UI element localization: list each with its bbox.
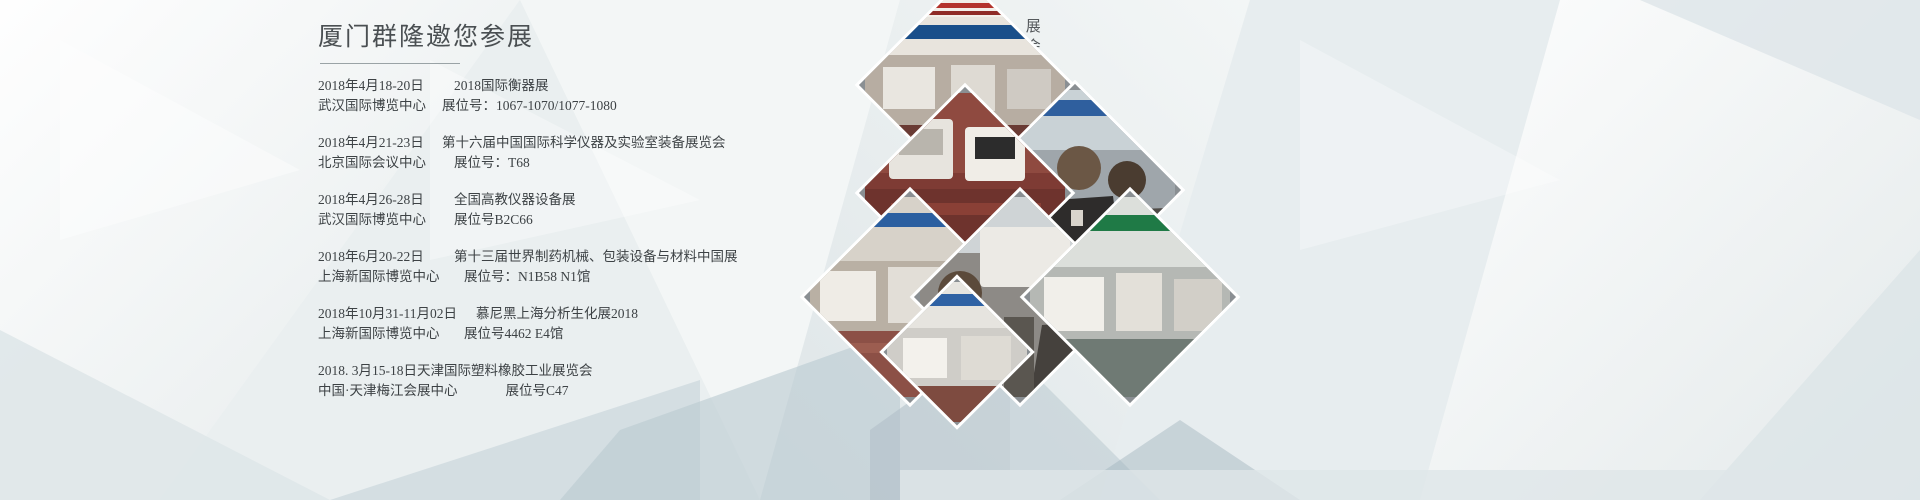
event-row-primary: 2018年4月26-28日 全国高教仪器设备展: [318, 190, 748, 210]
event-row-primary: 2018年10月31-11月02日 慕尼黑上海分析生化展2018: [318, 304, 748, 324]
event-row-secondary: 武汉国际博览中心 展位号：1067-1070/1077-1080: [318, 96, 748, 116]
event-date: 2018年6月20-22日: [318, 247, 436, 267]
event-row-primary: 2018年6月20-22日 第十三届世界制药机械、包装设备与材料中国展: [318, 247, 748, 267]
event-item: 2018年4月18-20日 2018国际衡器展 武汉国际博览中心 展位号：106…: [318, 76, 748, 116]
event-date: 2018年4月21-23日: [318, 133, 436, 153]
event-booth: 展位号：T68: [436, 153, 530, 173]
event-row-primary: 2018年4月18-20日 2018国际衡器展: [318, 76, 748, 96]
photo-collage: [835, 0, 1255, 420]
event-row-secondary: 北京国际会议中心 展位号：T68: [318, 153, 748, 173]
event-venue: 北京国际会议中心: [318, 153, 436, 173]
event-booth: 展位号4462 E4馆: [458, 324, 563, 344]
event-item: 2018年4月21-23日 第十六届中国国际科学仪器及实验室装备展览会 北京国际…: [318, 133, 748, 173]
event-item: 2018年10月31-11月02日 慕尼黑上海分析生化展2018 上海新国际博览…: [318, 304, 748, 344]
event-venue: 武汉国际博览中心: [318, 96, 436, 116]
event-booth: 展位号B2C66: [436, 210, 533, 230]
banner-root: 厦门群隆邀您参展 2018年4月18-20日 2018国际衡器展 武汉国际博览中…: [0, 0, 1920, 500]
title-divider: [320, 63, 460, 64]
event-name: 天津国际塑料橡胶工业展览会: [417, 363, 593, 378]
event-booth: 展位号：1067-1070/1077-1080: [436, 96, 617, 116]
event-venue: 武汉国际博览中心: [318, 210, 436, 230]
event-date: 2018. 3月15-18日: [318, 363, 417, 378]
event-date: 2018年4月18-20日: [318, 76, 436, 96]
event-item: 2018年4月26-28日 全国高教仪器设备展 武汉国际博览中心 展位号B2C6…: [318, 190, 748, 230]
event-venue: 中国·天津梅江会展中心: [318, 383, 458, 398]
event-booth: 展位号C47: [506, 383, 569, 398]
event-name: 全国高教仪器设备展: [436, 190, 576, 210]
event-booth: 展位号：N1B58 N1馆: [458, 267, 590, 287]
event-venue: 上海新国际博览中心: [318, 324, 458, 344]
event-date: 2018年4月26-28日: [318, 190, 436, 210]
event-item: 2018. 3月15-18日天津国际塑料橡胶工业展览会 中国·天津梅江会展中心展…: [318, 361, 748, 401]
event-date: 2018年10月31-11月02日: [318, 304, 458, 324]
event-row-secondary: 上海新国际博览中心 展位号4462 E4馆: [318, 324, 748, 344]
event-item: 2018年6月20-22日 第十三届世界制药机械、包装设备与材料中国展 上海新国…: [318, 247, 748, 287]
event-row-secondary: 武汉国际博览中心 展位号B2C66: [318, 210, 748, 230]
event-row-primary: 2018年4月21-23日 第十六届中国国际科学仪器及实验室装备展览会: [318, 133, 748, 153]
event-row-secondary: 上海新国际博览中心 展位号：N1B58 N1馆: [318, 267, 748, 287]
event-row-primary: 2018. 3月15-18日天津国际塑料橡胶工业展览会: [318, 361, 748, 381]
event-name: 慕尼黑上海分析生化展2018: [458, 304, 638, 324]
event-name: 第十六届中国国际科学仪器及实验室装备展览会: [436, 133, 726, 153]
event-name: 2018国际衡器展: [436, 76, 549, 96]
exhibition-info-panel: 厦门群隆邀您参展 2018年4月18-20日 2018国际衡器展 武汉国际博览中…: [318, 24, 748, 424]
event-name: 第十三届世界制药机械、包装设备与材料中国展: [436, 247, 738, 267]
event-row-secondary: 中国·天津梅江会展中心展位号C47: [318, 381, 748, 401]
page-title: 厦门群隆邀您参展: [318, 24, 748, 52]
event-venue: 上海新国际博览中心: [318, 267, 458, 287]
